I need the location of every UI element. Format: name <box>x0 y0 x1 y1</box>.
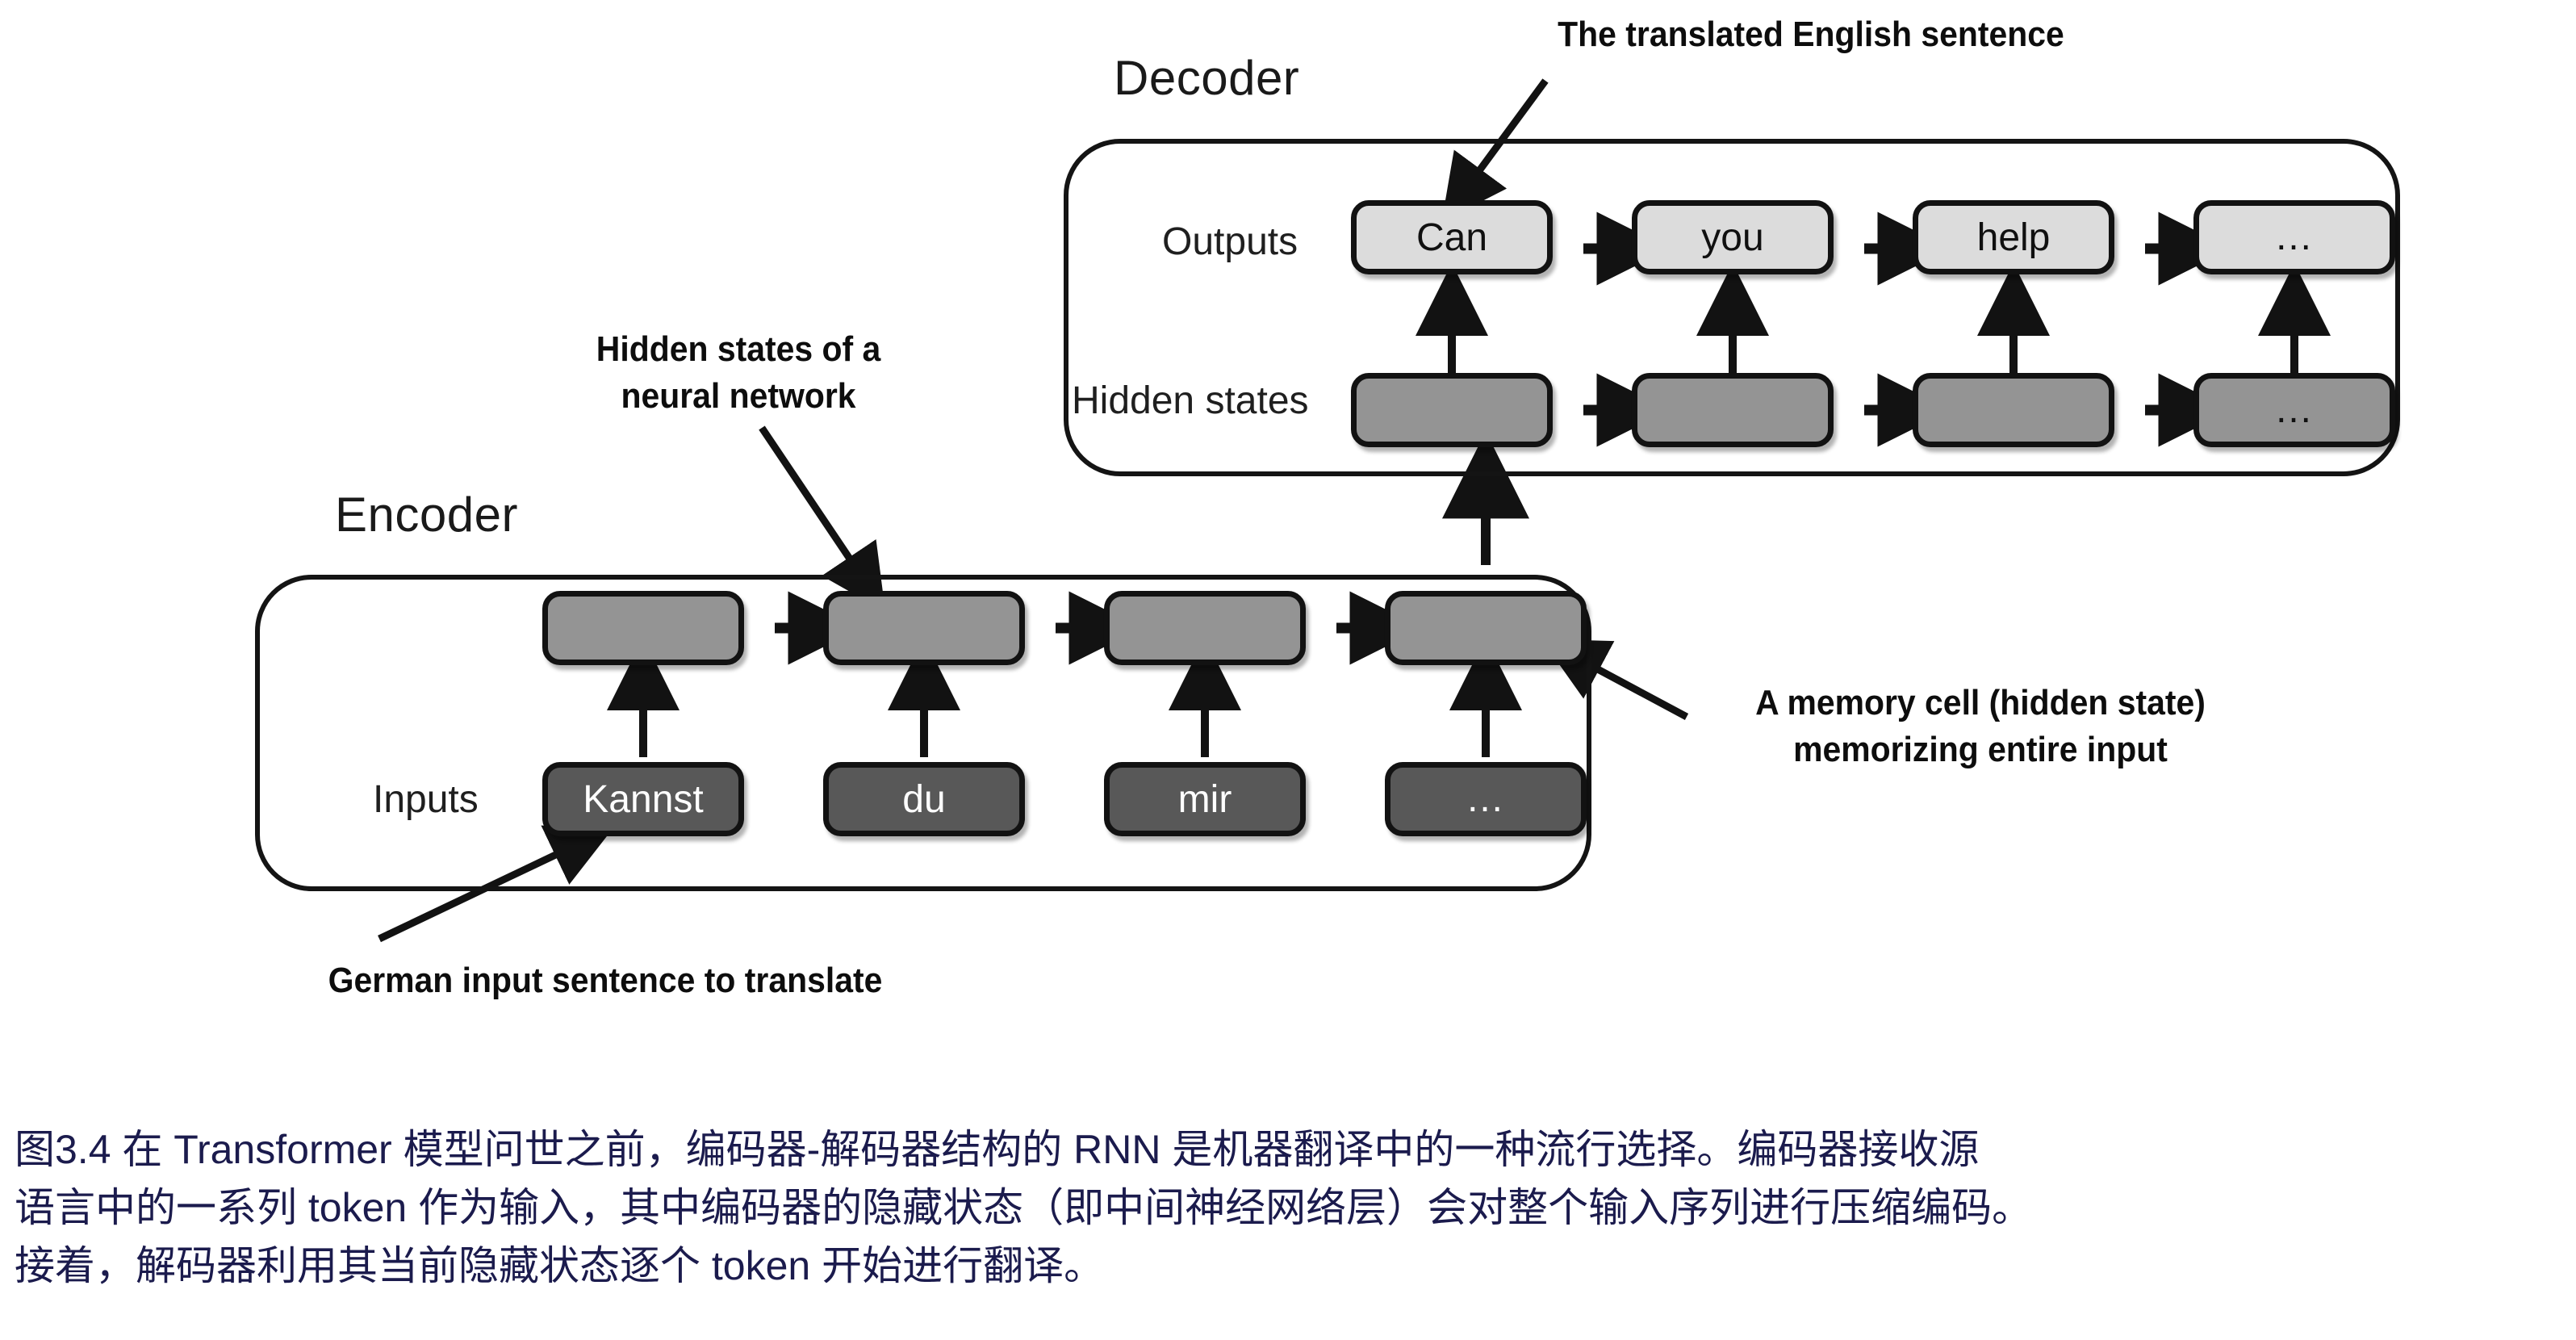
encoder-inputs-row-label: Inputs <box>373 777 479 822</box>
cell-text-ellipsis: … <box>2274 399 2315 422</box>
cell-text: Can <box>1416 216 1487 260</box>
annotation-memory-cell: A memory cell (hidden state) memorizing … <box>1718 680 2244 773</box>
decoder-output-cell[interactable]: you <box>1632 200 1834 274</box>
encoder-hidden-cell[interactable] <box>823 591 1025 665</box>
cell-text-ellipsis: … <box>1466 788 1506 811</box>
caption-line-3: 接着，解码器利用其当前隐藏状态逐个 token 开始进行翻译。 <box>15 1237 2565 1295</box>
cell-text: mir <box>1178 777 1232 822</box>
decoder-hidden-cell[interactable] <box>1913 373 2114 447</box>
cell-text: help <box>1977 216 2051 260</box>
decoder-output-cell[interactable]: Can <box>1351 200 1553 274</box>
decoder-output-cell[interactable]: help <box>1913 200 2114 274</box>
encoder-input-cell[interactable]: mir <box>1104 762 1306 836</box>
cell-text: you <box>1701 216 1763 260</box>
encoder-hidden-cell[interactable] <box>542 591 744 665</box>
decoder-hidden-row-label: Hidden states <box>1072 379 1309 423</box>
caption-line-1: 图3.4 在 Transformer 模型问世之前，编码器-解码器结构的 RNN… <box>15 1120 2565 1179</box>
decoder-hidden-cell[interactable] <box>1351 373 1553 447</box>
encoder-hidden-cell[interactable] <box>1385 591 1587 665</box>
encoder-hidden-cell[interactable] <box>1104 591 1306 665</box>
annotation-german-input: German input sentence to translate <box>298 957 914 1004</box>
annotation-translated-sentence: The translated English sentence <box>1526 11 2097 58</box>
cell-text-ellipsis: … <box>2274 226 2315 249</box>
caption-line-2: 语言中的一系列 token 作为输入，其中编码器的隐藏状态（即中间神经网络层）会… <box>15 1179 2565 1237</box>
annotation-hidden-states: Hidden states of a neural network <box>577 326 900 420</box>
encoder-title: Encoder <box>335 487 518 542</box>
encoder-input-cell[interactable]: du <box>823 762 1025 836</box>
figure-caption: 图3.4 在 Transformer 模型问世之前，编码器-解码器结构的 RNN… <box>15 1120 2565 1295</box>
figure-diagram: Decoder Encoder Outputs Hidden states In… <box>0 0 2576 1074</box>
cell-text: du <box>902 777 945 822</box>
decoder-hidden-cell[interactable] <box>1632 373 1834 447</box>
decoder-hidden-cell[interactable]: … <box>2193 373 2395 447</box>
encoder-input-cell[interactable]: … <box>1385 762 1587 836</box>
decoder-title: Decoder <box>1114 50 1299 106</box>
decoder-output-cell[interactable]: … <box>2193 200 2395 274</box>
encoder-input-cell[interactable]: Kannst <box>542 762 744 836</box>
decoder-outputs-row-label: Outputs <box>1162 220 1298 264</box>
cell-text: Kannst <box>583 777 703 822</box>
